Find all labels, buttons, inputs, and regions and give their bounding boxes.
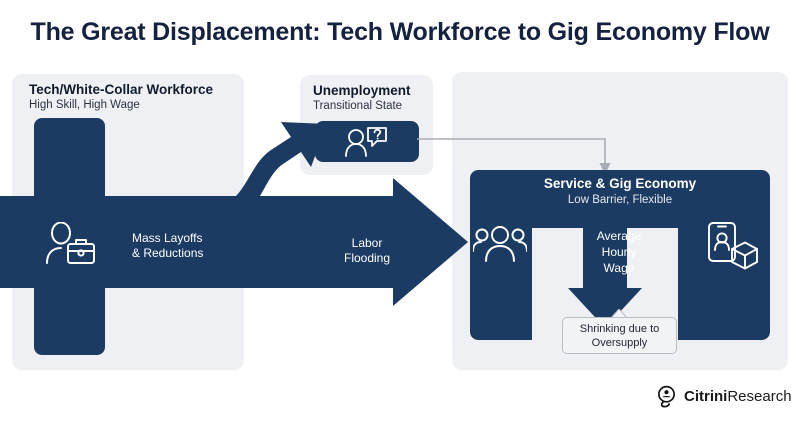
flow-label-line: & Reductions: [132, 246, 203, 261]
branch-flow-arrow: [95, 110, 330, 220]
citrini-logo-icon: [655, 385, 678, 408]
flow-label-line: Labor: [344, 236, 390, 251]
flow-label-labor-flooding: Labor Flooding: [344, 236, 390, 266]
brand-logo: CitriniResearch: [655, 385, 792, 408]
phone-package-icon: [707, 222, 759, 270]
page-title: The Great Displacement: Tech Workforce t…: [0, 18, 800, 47]
wage-label-line: Hourly: [583, 244, 655, 260]
flow-label-line: Mass Layoffs: [132, 231, 203, 246]
left-panel-title: Tech/White-Collar Workforce: [29, 82, 213, 97]
unemployment-panel-title: Unemployment: [313, 83, 411, 98]
person-question-icon: [345, 127, 389, 157]
callout-line: Oversupply: [580, 336, 660, 350]
average-hourly-wage-label: Average Hourly Wage: [583, 228, 655, 276]
gig-card-subtitle: Low Barrier, Flexible: [470, 194, 770, 206]
wage-label-line: Wage: [583, 260, 655, 276]
flow-label-line: Flooding: [344, 251, 390, 266]
callout-line: Shrinking due to: [580, 322, 660, 336]
wage-label-line: Average: [583, 228, 655, 244]
oversupply-callout: Shrinking due to Oversupply: [562, 317, 677, 354]
gig-card-title: Service & Gig Economy: [470, 176, 770, 191]
person-briefcase-icon: [43, 222, 97, 266]
people-group-icon: [473, 225, 527, 263]
brand-name-rest: Research: [727, 388, 791, 405]
diagram-canvas: The Great Displacement: Tech Workforce t…: [0, 0, 800, 423]
flow-label-mass-layoffs: Mass Layoffs & Reductions: [132, 231, 203, 261]
brand-name-bold: Citrini: [684, 388, 727, 405]
brand-name: CitriniResearch: [684, 388, 792, 405]
